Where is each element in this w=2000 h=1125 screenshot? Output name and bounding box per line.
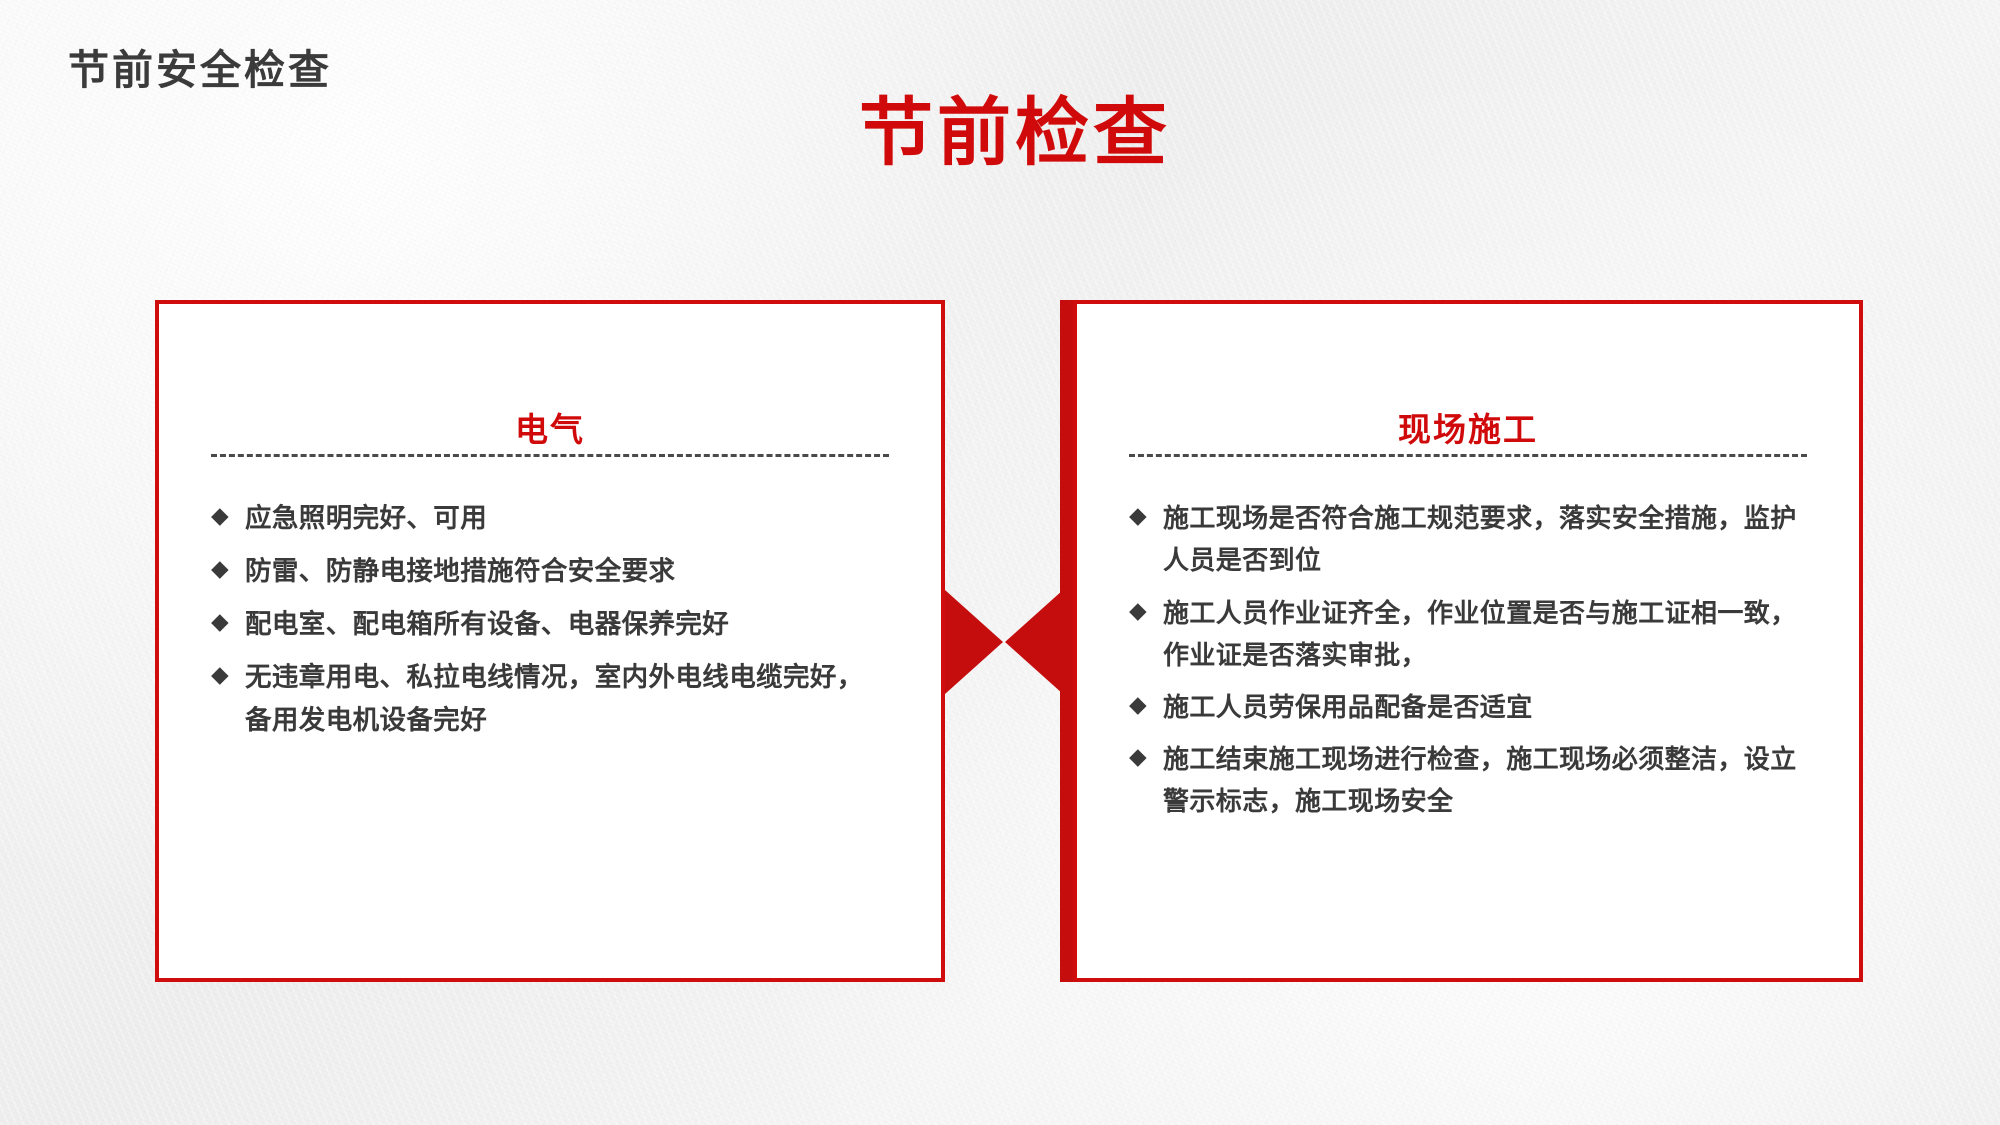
list-item: ◆ 应急照明完好、可用 — [211, 497, 889, 540]
list-item: ◆ 无违章用电、私拉电线情况，室内外电线电缆完好，备用发电机设备完好 — [211, 656, 889, 742]
slide-canvas: 节前安全检查 节前检查 电气 ◆ 应急照明完好、可用 ◆ 防雷、防 — [0, 0, 2000, 1125]
list-item: ◆ 配电室、配电箱所有设备、电器保养完好 — [211, 603, 889, 646]
panel-site-construction-divider — [1129, 454, 1807, 457]
list-item-text: 施工结束施工现场进行检查，施工现场必须整洁，设立警示标志，施工现场安全 — [1163, 738, 1807, 822]
list-item-text: 施工人员作业证齐全，作业位置是否与施工证相一致，作业证是否落实审批， — [1163, 592, 1807, 676]
page-title-text: 节前检查 — [859, 96, 1171, 170]
diamond-bullet-icon: ◆ — [211, 550, 245, 587]
chevron-right-icon — [945, 590, 1063, 694]
list-item-text: 施工人员劳保用品配备是否适宜 — [1163, 686, 1807, 728]
diamond-bullet-icon: ◆ — [1129, 497, 1163, 534]
page-title: 节前检查 — [0, 96, 2000, 170]
panel-site-construction-title: 现场施工 — [1384, 412, 1552, 448]
diamond-bullet-icon: ◆ — [211, 603, 245, 640]
diamond-bullet-icon: ◆ — [1129, 686, 1163, 723]
list-item: ◆ 防雷、防静电接地措施符合安全要求 — [211, 550, 889, 593]
list-item-text: 无违章用电、私拉电线情况，室内外电线电缆完好，备用发电机设备完好 — [245, 656, 889, 742]
list-item-text: 配电室、配电箱所有设备、电器保养完好 — [245, 603, 889, 646]
panel-electrical-title: 电气 — [501, 412, 599, 448]
list-item: ◆ 施工结束施工现场进行检查，施工现场必须整洁，设立警示标志，施工现场安全 — [1129, 738, 1807, 822]
list-item-text: 施工现场是否符合施工规范要求，落实安全措施，监护人员是否到位 — [1163, 497, 1807, 581]
panel-electrical-divider — [211, 454, 889, 457]
list-item-text: 防雷、防静电接地措施符合安全要求 — [245, 550, 889, 593]
diamond-bullet-icon: ◆ — [1129, 738, 1163, 775]
panel-site-construction-header: 现场施工 — [1129, 304, 1807, 457]
panels-container: 电气 ◆ 应急照明完好、可用 ◆ 防雷、防静电接地措施符合安全要求 ◆ 配电室、… — [0, 300, 2000, 1000]
slide-kicker-title: 节前安全检查 — [68, 36, 332, 96]
diamond-bullet-icon: ◆ — [211, 656, 245, 693]
panel-electrical: 电气 ◆ 应急照明完好、可用 ◆ 防雷、防静电接地措施符合安全要求 ◆ 配电室、… — [155, 300, 945, 982]
diamond-bullet-icon: ◆ — [211, 497, 245, 534]
diamond-bullet-icon: ◆ — [1129, 592, 1163, 629]
panel-site-construction-list: ◆ 施工现场是否符合施工规范要求，落实安全措施，监护人员是否到位 ◆ 施工人员作… — [1077, 457, 1859, 822]
list-item: ◆ 施工人员作业证齐全，作业位置是否与施工证相一致，作业证是否落实审批， — [1129, 592, 1807, 676]
panel-site-construction: 现场施工 ◆ 施工现场是否符合施工规范要求，落实安全措施，监护人员是否到位 ◆ … — [1073, 300, 1863, 982]
panel-electrical-list: ◆ 应急照明完好、可用 ◆ 防雷、防静电接地措施符合安全要求 ◆ 配电室、配电箱… — [159, 457, 941, 742]
list-item-text: 应急照明完好、可用 — [245, 497, 889, 540]
list-item: ◆ 施工现场是否符合施工规范要求，落实安全措施，监护人员是否到位 — [1129, 497, 1807, 581]
list-item: ◆ 施工人员劳保用品配备是否适宜 — [1129, 686, 1807, 728]
panel-electrical-header: 电气 — [211, 304, 889, 457]
